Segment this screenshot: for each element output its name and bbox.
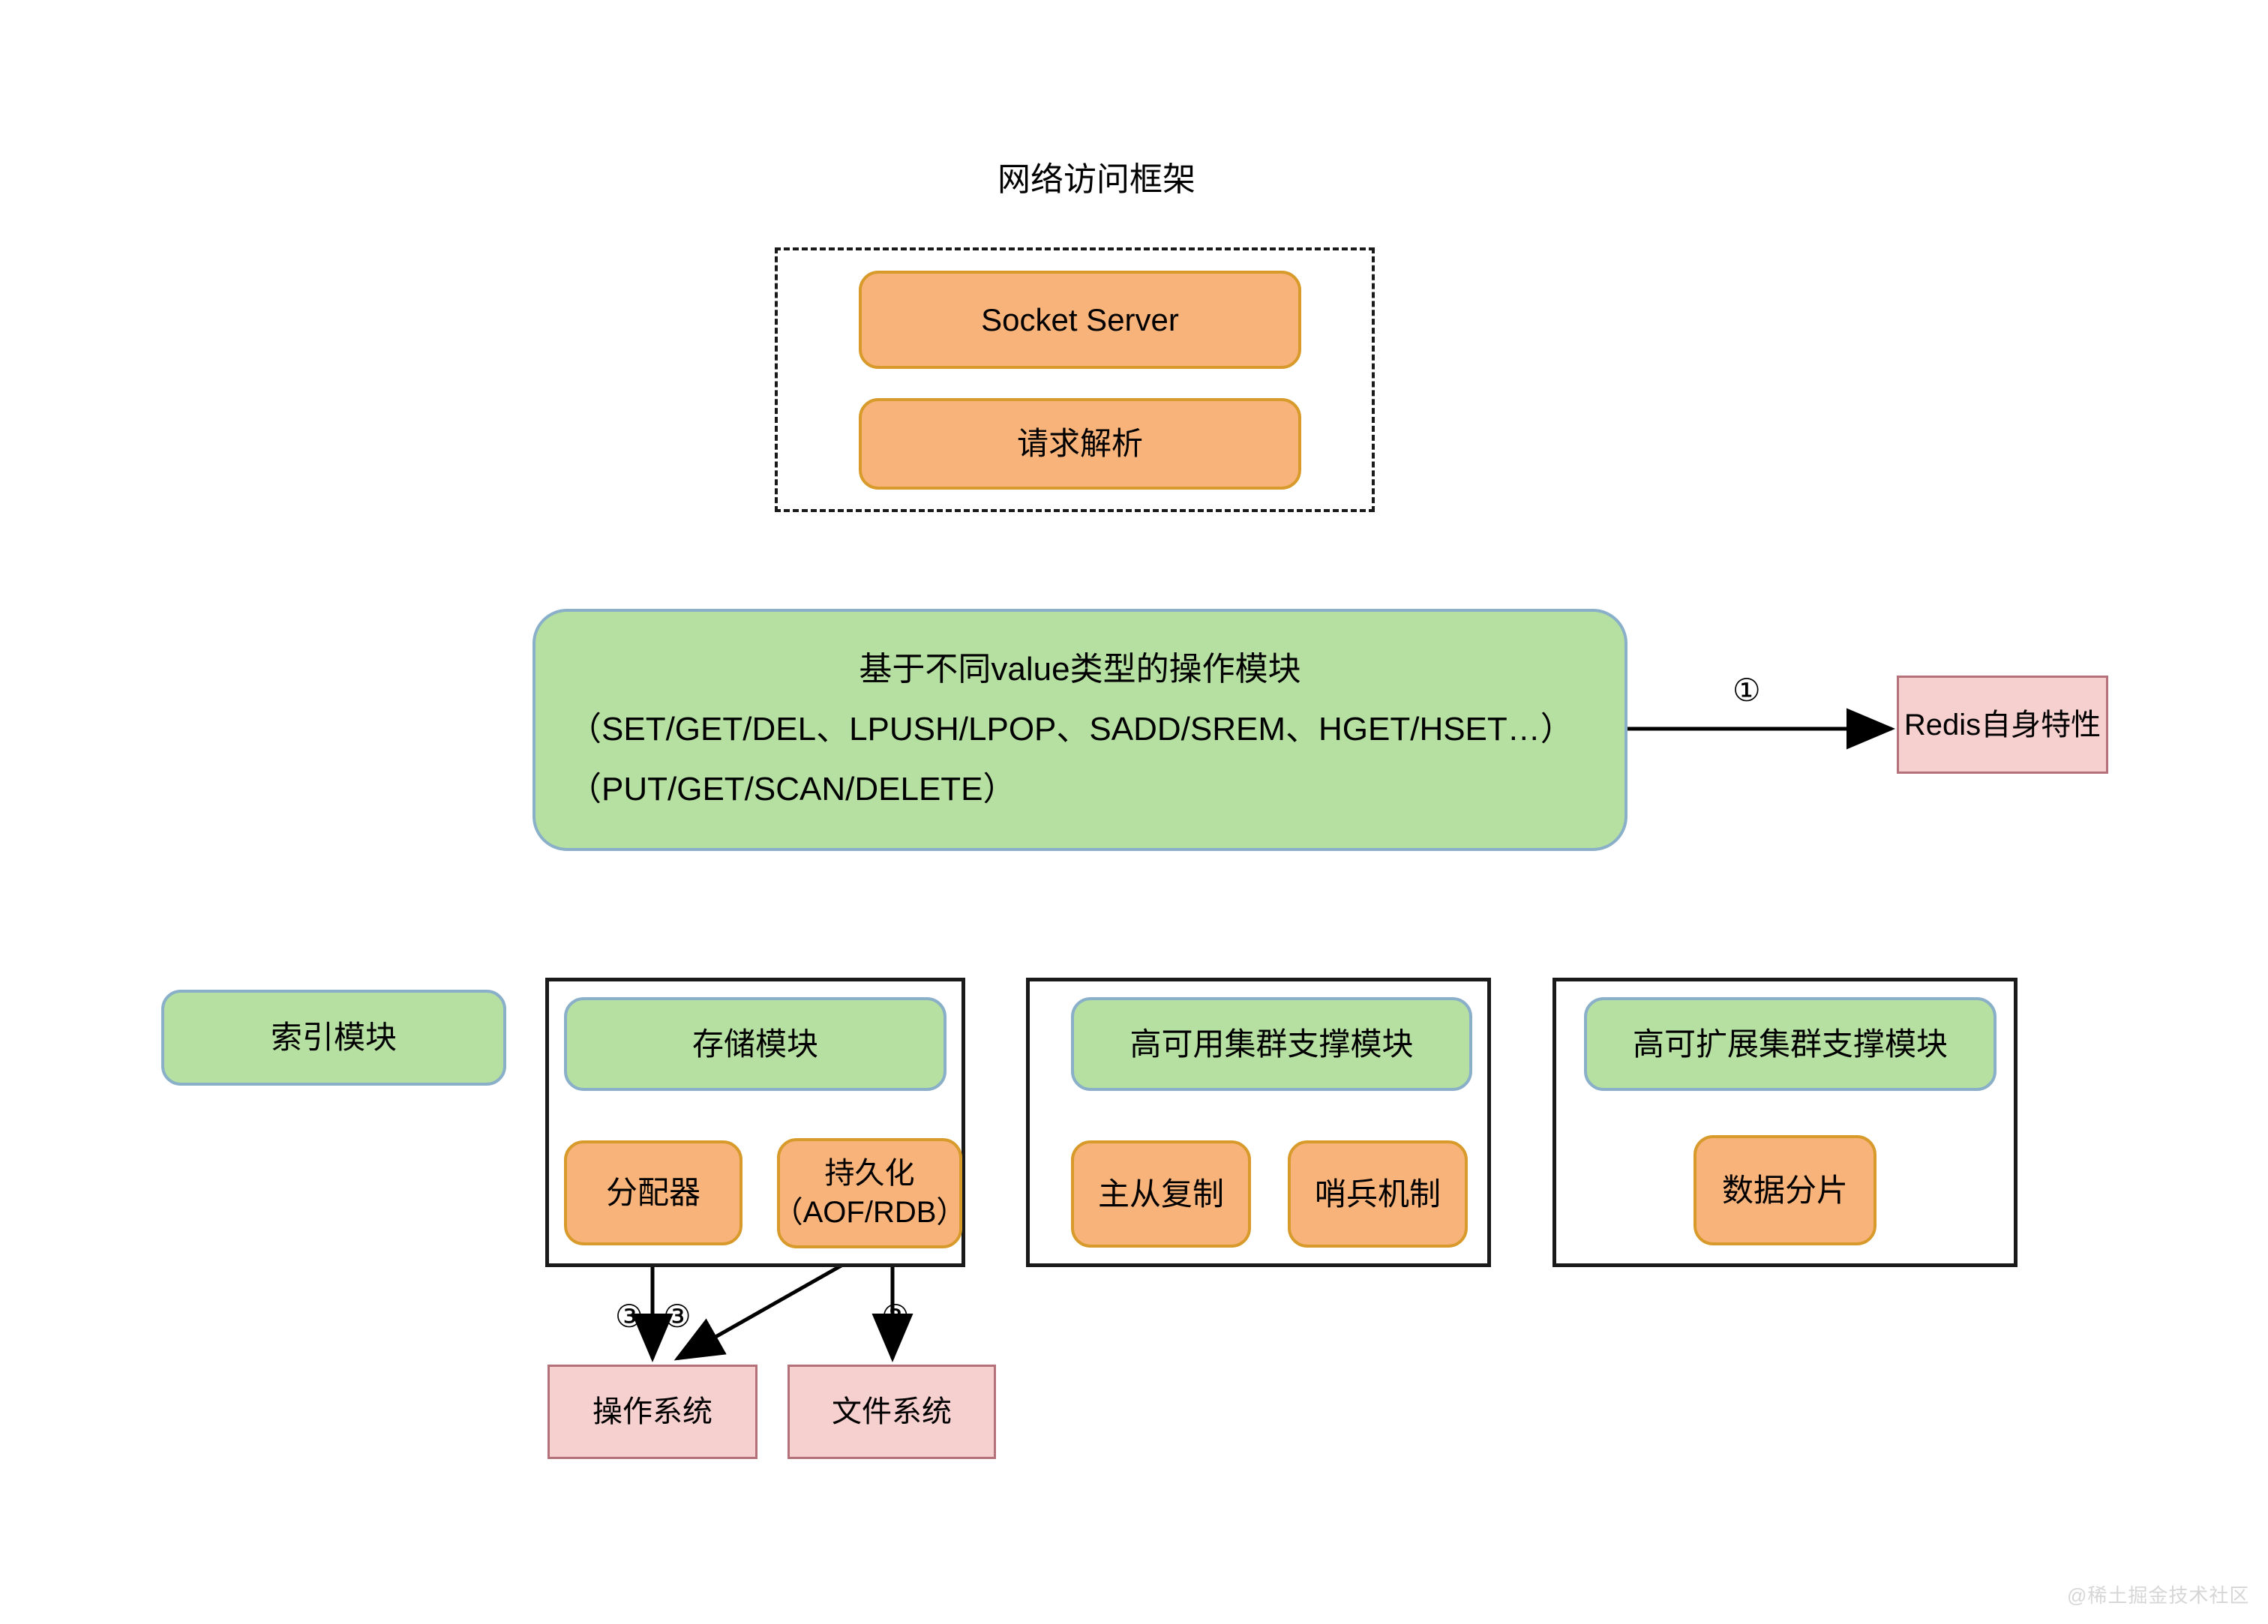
node-data-sharding-label: 数据分片 [1722,1170,1848,1211]
node-file-system-label: 文件系统 [832,1394,952,1430]
watermark: @稀土掘金技术社区 [2067,1581,2249,1608]
node-master-slave-replication-label: 主从复制 [1098,1174,1224,1215]
node-persistence-label-line2: （AOF/RDB） [773,1194,967,1232]
node-operations-module[interactable]: 基于不同value类型的操作模块 （SET/GET/DEL、LPUSH/LPOP… [532,609,1627,851]
node-ha-cluster-header[interactable]: 高可用集群支撑模块 [1071,997,1472,1091]
operations-module-commands-redis: （SET/GET/DEL、LPUSH/LPOP、SADD/SREM、HGET/H… [568,709,1591,750]
node-ha-cluster-header-label: 高可用集群支撑模块 [1129,1024,1413,1065]
node-redis-feature[interactable]: Redis自身特性 [1897,676,2108,774]
step-marker-two: ② [881,1301,910,1332]
node-storage-module-header[interactable]: 存储模块 [564,997,946,1091]
node-index-module-label: 索引模块 [271,1017,397,1058]
node-operating-system[interactable]: 操作系统 [547,1365,757,1459]
node-allocator[interactable]: 分配器 [564,1140,742,1245]
node-scalable-cluster-header-label: 高可扩展集群支撑模块 [1633,1024,1948,1065]
node-request-parsing-label: 请求解析 [1017,424,1143,464]
step-marker-one: ① [1732,675,1761,706]
node-request-parsing[interactable]: 请求解析 [859,398,1301,490]
node-persistence-label-line1: 持久化 [825,1155,915,1193]
page-title: 网络访问框架 [997,163,1195,196]
node-master-slave-replication[interactable]: 主从复制 [1071,1140,1251,1248]
node-index-module[interactable]: 索引模块 [161,990,506,1086]
node-file-system[interactable]: 文件系统 [787,1365,996,1459]
node-scalable-cluster-header[interactable]: 高可扩展集群支撑模块 [1584,997,1996,1091]
node-socket-server[interactable]: Socket Server [859,271,1301,369]
node-socket-server-label: Socket Server [981,300,1179,340]
step-marker-three-a: ③ [615,1301,643,1332]
node-sentinel-mechanism-label: 哨兵机制 [1315,1174,1441,1215]
node-sentinel-mechanism[interactable]: 哨兵机制 [1288,1140,1468,1248]
node-data-sharding[interactable]: 数据分片 [1693,1135,1876,1245]
step-marker-three-b: ③ [663,1301,691,1332]
node-storage-module-header-label: 存储模块 [692,1024,818,1065]
operations-module-commands-generic: （PUT/GET/SCAN/DELETE） [568,769,1591,810]
node-operating-system-label: 操作系统 [592,1394,712,1430]
node-allocator-label: 分配器 [606,1173,700,1213]
operations-module-title: 基于不同value类型的操作模块 [568,650,1591,690]
node-persistence[interactable]: 持久化 （AOF/RDB） [777,1138,962,1248]
node-redis-feature-label: Redis自身特性 [1904,707,2101,743]
diagram-canvas: 网络访问框架 Socket Server 请求解析 基于不同value类型的操作… [0,0,2268,1624]
